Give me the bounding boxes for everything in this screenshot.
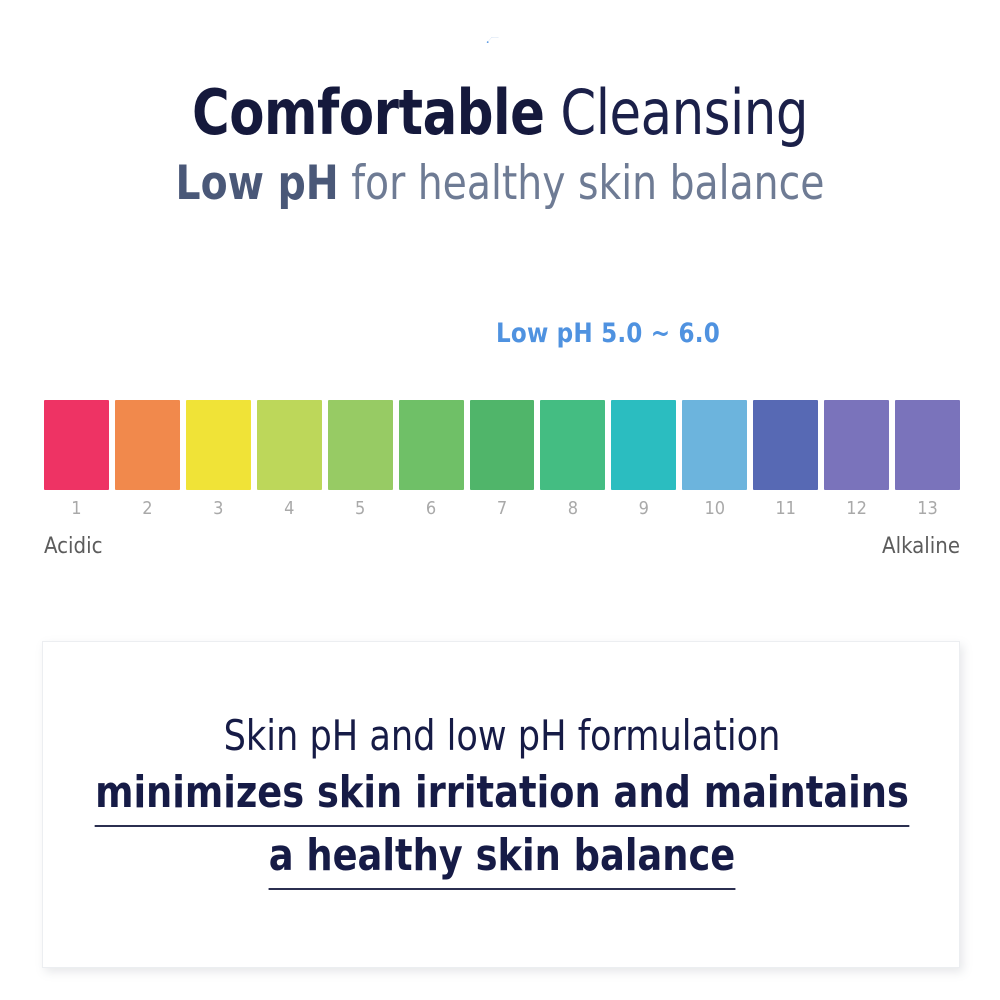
callout-leader-line [0, 0, 1000, 110]
ph-number-6: 6 [399, 498, 464, 524]
ph-swatch-9 [611, 400, 676, 490]
ph-number-12: 12 [824, 498, 889, 524]
ph-number-11: 11 [753, 498, 818, 524]
info-card-line-3: a healthy skin balance [75, 827, 929, 890]
page-subtitle-strong: Low pH [176, 156, 339, 211]
ph-number-9: 9 [611, 498, 676, 524]
info-card: Skin pH and low pH formulation minimizes… [42, 641, 960, 968]
ph-scale-numbers: 12345678910111213 [44, 498, 960, 524]
ph-swatch-11 [753, 400, 818, 490]
ph-swatch-3 [186, 400, 251, 490]
page-subtitle: Low pH for healthy skin balance [35, 154, 965, 214]
info-card-content: Skin pH and low pH formulation minimizes… [43, 708, 961, 890]
callout-marker-dot [487, 41, 489, 43]
ph-scale-swatches [44, 400, 960, 490]
ph-number-1: 1 [44, 498, 109, 524]
callout-line-diagonal [488, 37, 492, 41]
ph-number-3: 3 [186, 498, 251, 524]
ph-swatch-5 [328, 400, 393, 490]
ph-swatch-10 [682, 400, 747, 490]
page-subtitle-light: for healthy skin balance [339, 156, 825, 211]
ph-number-7: 7 [470, 498, 535, 524]
ph-number-2: 2 [115, 498, 180, 524]
ph-label-acidic: Acidic [44, 534, 102, 559]
callout-label: Low pH 5.0 ~ 6.0 [496, 318, 720, 349]
ph-swatch-6 [399, 400, 464, 490]
ph-number-13: 13 [895, 498, 960, 524]
ph-swatch-8 [540, 400, 605, 490]
ph-swatch-4 [257, 400, 322, 490]
info-card-line-2-text: minimizes skin irritation and maintains [95, 764, 909, 827]
info-card-line-2: minimizes skin irritation and maintains [75, 764, 929, 827]
ph-number-4: 4 [257, 498, 322, 524]
ph-number-8: 8 [540, 498, 605, 524]
ph-swatch-12 [824, 400, 889, 490]
ph-infographic-page: Comfortable Cleansing Low pH for healthy… [0, 0, 1000, 1000]
info-card-line-1: Skin pH and low pH formulation [75, 708, 929, 764]
ph-swatch-1 [44, 400, 109, 490]
ph-number-5: 5 [328, 498, 393, 524]
ph-swatch-7 [470, 400, 535, 490]
ph-label-alkaline: Alkaline [882, 534, 960, 559]
ph-scale-end-labels: Acidic Alkaline [44, 534, 960, 566]
ph-swatch-2 [115, 400, 180, 490]
ph-swatch-13 [895, 400, 960, 490]
ph-number-10: 10 [682, 498, 747, 524]
info-card-line-3-text: a healthy skin balance [269, 827, 736, 890]
